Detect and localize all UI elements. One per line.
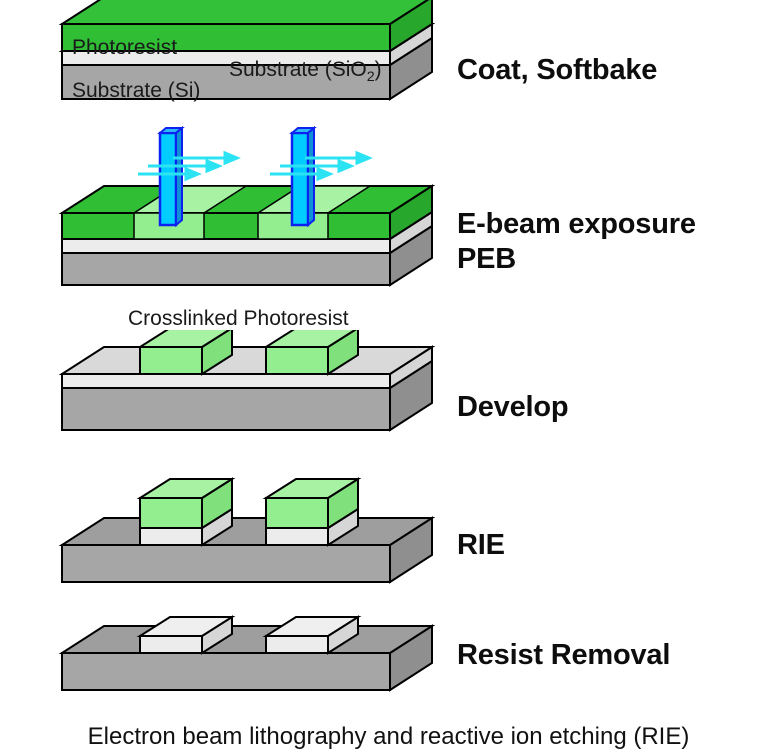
step-label-develop: Develop <box>457 390 568 425</box>
silicon-layer <box>62 518 432 582</box>
step-label-rie: RIE <box>457 528 505 563</box>
label-photoresist: Photoresist <box>72 36 177 60</box>
electron-beam-2 <box>292 128 314 225</box>
beam-1-arrows <box>138 153 237 179</box>
label-substrate-sio2: Substrate (SiO2) <box>229 58 382 85</box>
step-label-coat-softbake: Coat, Softbake <box>457 53 657 88</box>
resist-removal-illustration <box>0 608 460 718</box>
step-label-resist-removal: Resist Removal <box>457 638 670 673</box>
electron-beam-1 <box>160 128 182 225</box>
beam-2-arrows <box>270 153 369 179</box>
label-substrate-si: Substrate (Si) <box>72 79 200 103</box>
rie-illustration <box>0 470 460 600</box>
silicon-layer <box>62 626 432 690</box>
step-label-ebeam-exposure: E-beam exposure PEB <box>457 207 696 278</box>
figure-caption: Electron beam lithography and reactive i… <box>0 723 777 751</box>
resist-top-face <box>62 186 432 213</box>
label-crosslinked-photoresist: Crosslinked Photoresist <box>128 307 349 331</box>
oxide-layer <box>62 347 432 388</box>
develop-illustration <box>0 330 460 460</box>
